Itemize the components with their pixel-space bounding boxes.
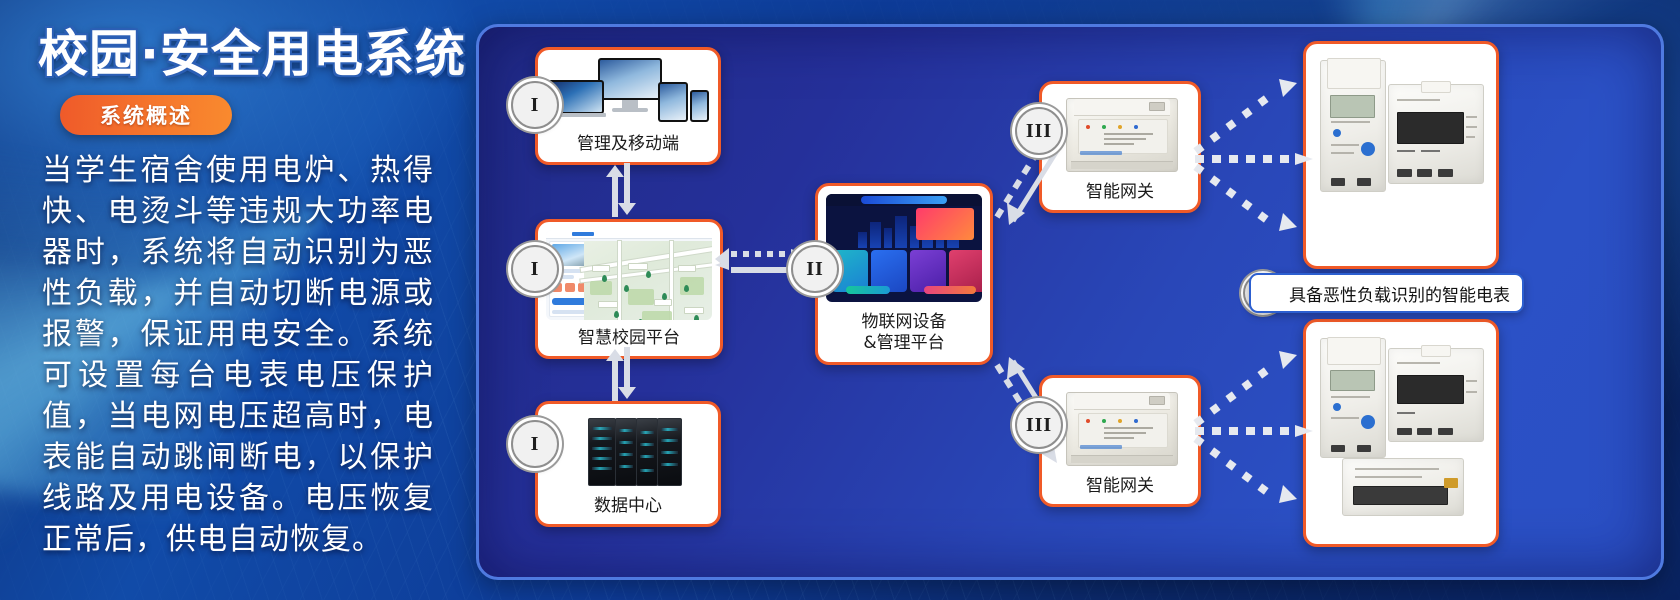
numeral-admin-mobile: I: [531, 94, 540, 117]
node-smart-meters-top-group[interactable]: [1303, 41, 1499, 269]
smart-meters-label-text: 具备恶性负载识别的智能电表: [1251, 281, 1522, 306]
dashboard-topbar: [546, 230, 712, 239]
node-data-center-label: 数据中心: [538, 496, 718, 517]
connector-gateway-bottom-to-meters: [1191, 333, 1317, 519]
din-rail-meter-icon: [1342, 458, 1464, 516]
numeral-campus-platform: I: [531, 258, 540, 281]
overview-paragraph: 当学生宿舍使用电炉、热得快、电烫斗等违规大功率电器时，系统将自动识别为恶性负载，…: [42, 150, 434, 560]
tablet-icon: [658, 82, 688, 122]
node-smart-meters-bottom-group[interactable]: [1303, 319, 1499, 547]
node-campus-platform[interactable]: 智慧校园平台: [535, 219, 723, 359]
numeral-data-center: I: [531, 433, 540, 456]
node-data-center[interactable]: 数据中心: [535, 401, 721, 527]
campus-map: [584, 241, 712, 320]
node-admin-mobile[interactable]: 管理及移动端: [535, 47, 721, 165]
smart-gateway-icon: [1066, 98, 1178, 172]
smart-meters-bottom-image: [1314, 332, 1488, 534]
section-badge-label: 系统概述: [100, 100, 192, 130]
monitor-stand: [622, 100, 638, 108]
numeral-badge-gateway-top: III: [1015, 107, 1063, 155]
three-phase-meter-icon: [1388, 348, 1484, 442]
single-phase-meter-icon: [1320, 60, 1386, 192]
smart-meters-label-box[interactable]: 具备恶性负载识别的智能电表: [1249, 273, 1524, 313]
desktop-monitor-icon: [598, 58, 662, 100]
node-campus-platform-label: 智慧校园平台: [538, 328, 720, 349]
iot-screen-topbar: [826, 194, 982, 206]
smart-gateway-icon: [1066, 392, 1178, 466]
smart-meters-top-image: [1314, 54, 1488, 256]
page-title: 校园·安全用电系统: [38, 14, 466, 86]
numeral-badge-gateway-bottom: III: [1015, 401, 1063, 449]
numeral-gateway-top: III: [1026, 120, 1052, 143]
section-badge: 系统概述: [60, 95, 232, 135]
numeral-badge-admin-mobile: I: [511, 81, 559, 129]
monitor-base: [612, 108, 648, 112]
connector-gateway-top-to-meters: [1191, 61, 1317, 247]
data-center-server-image: [546, 412, 710, 490]
phone-icon: [690, 90, 709, 122]
iot-footer-row: [832, 286, 976, 296]
single-phase-meter-icon: [1320, 338, 1386, 458]
node-iot-platform-label-line2: &管理平台: [818, 333, 990, 354]
iot-platform-screen-image: [826, 194, 982, 302]
iot-promo-card: [916, 208, 974, 240]
numeral-gateway-bottom: III: [1026, 414, 1052, 437]
admin-mobile-devices-image: [546, 58, 710, 128]
node-iot-platform[interactable]: 物联网设备 &管理平台: [815, 183, 993, 365]
three-phase-meter-icon: [1388, 84, 1484, 184]
numeral-badge-campus-platform: I: [511, 245, 559, 293]
architecture-diagram-panel: 管理及移动端 I: [476, 24, 1664, 580]
connector-admin-to-platform: [603, 163, 637, 217]
node-iot-platform-label-line1: 物联网设备: [818, 312, 990, 333]
numeral-badge-iot-platform: II: [791, 245, 839, 293]
left-text-column: 校园·安全用电系统 系统概述 当学生宿舍使用电炉、热得快、电烫斗等违规大功率电器…: [0, 0, 470, 600]
screenshot-root: 校园·安全用电系统 系统概述 当学生宿舍使用电炉、热得快、电烫斗等违规大功率电器…: [0, 0, 1680, 600]
node-admin-mobile-label: 管理及移动端: [538, 134, 718, 155]
connector-platform-to-datacenter: [603, 347, 637, 401]
numeral-badge-data-center: I: [511, 420, 559, 468]
campus-platform-dashboard-image: [546, 230, 712, 320]
server-rack-icon: [588, 418, 680, 486]
numeral-iot-platform: II: [806, 258, 824, 281]
node-iot-platform-label: 物联网设备 &管理平台: [818, 312, 990, 354]
